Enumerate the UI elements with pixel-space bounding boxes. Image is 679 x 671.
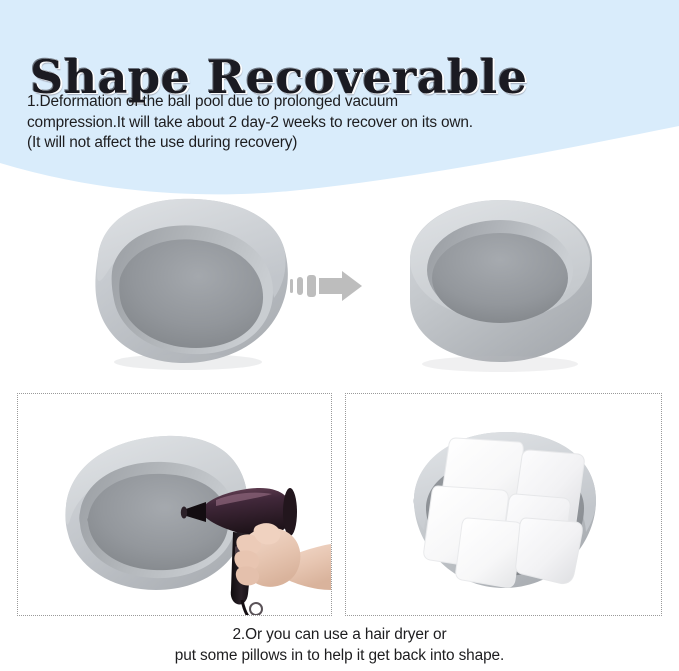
intro-line-3: (It will not affect the use during recov… bbox=[27, 133, 647, 154]
caption-line-1: 2.Or you can use a hair dryer or bbox=[0, 624, 679, 645]
caption-line-2: put some pillows in to help it get back … bbox=[0, 645, 679, 666]
pillow-5 bbox=[456, 518, 523, 587]
pillows-panel bbox=[345, 393, 662, 616]
recovered-pool-floor bbox=[432, 233, 568, 323]
recovered-pool-shadow bbox=[422, 356, 578, 372]
bottom-caption: 2.Or you can use a hair dryer or put som… bbox=[0, 624, 679, 666]
hair-dryer-figure bbox=[18, 394, 331, 615]
deformed-ball-pool-image bbox=[84, 192, 304, 377]
arrow-dash-2 bbox=[297, 277, 303, 295]
recovered-ball-pool-image bbox=[396, 192, 608, 377]
arrow-dash-3 bbox=[307, 275, 316, 297]
arrow-dash-1 bbox=[290, 279, 293, 293]
dryer-rear-cap bbox=[283, 488, 297, 536]
deformed-pool-shadow bbox=[114, 354, 262, 370]
right-arrow-icon bbox=[289, 268, 363, 311]
hair-dryer-panel bbox=[17, 393, 332, 616]
intro-line-2: compression.It will take about 2 day-2 w… bbox=[27, 113, 647, 134]
intro-paragraph: 1.Deformation of the ball pool due to pr… bbox=[27, 92, 647, 154]
dryer-cord-loop bbox=[250, 603, 262, 615]
intro-line-1: 1.Deformation of the ball pool due to pr… bbox=[27, 92, 647, 113]
pillows-figure bbox=[346, 394, 661, 615]
dryer-nozzle-tip bbox=[181, 507, 187, 519]
pillow-6 bbox=[516, 518, 583, 584]
arrow-head bbox=[319, 271, 362, 301]
